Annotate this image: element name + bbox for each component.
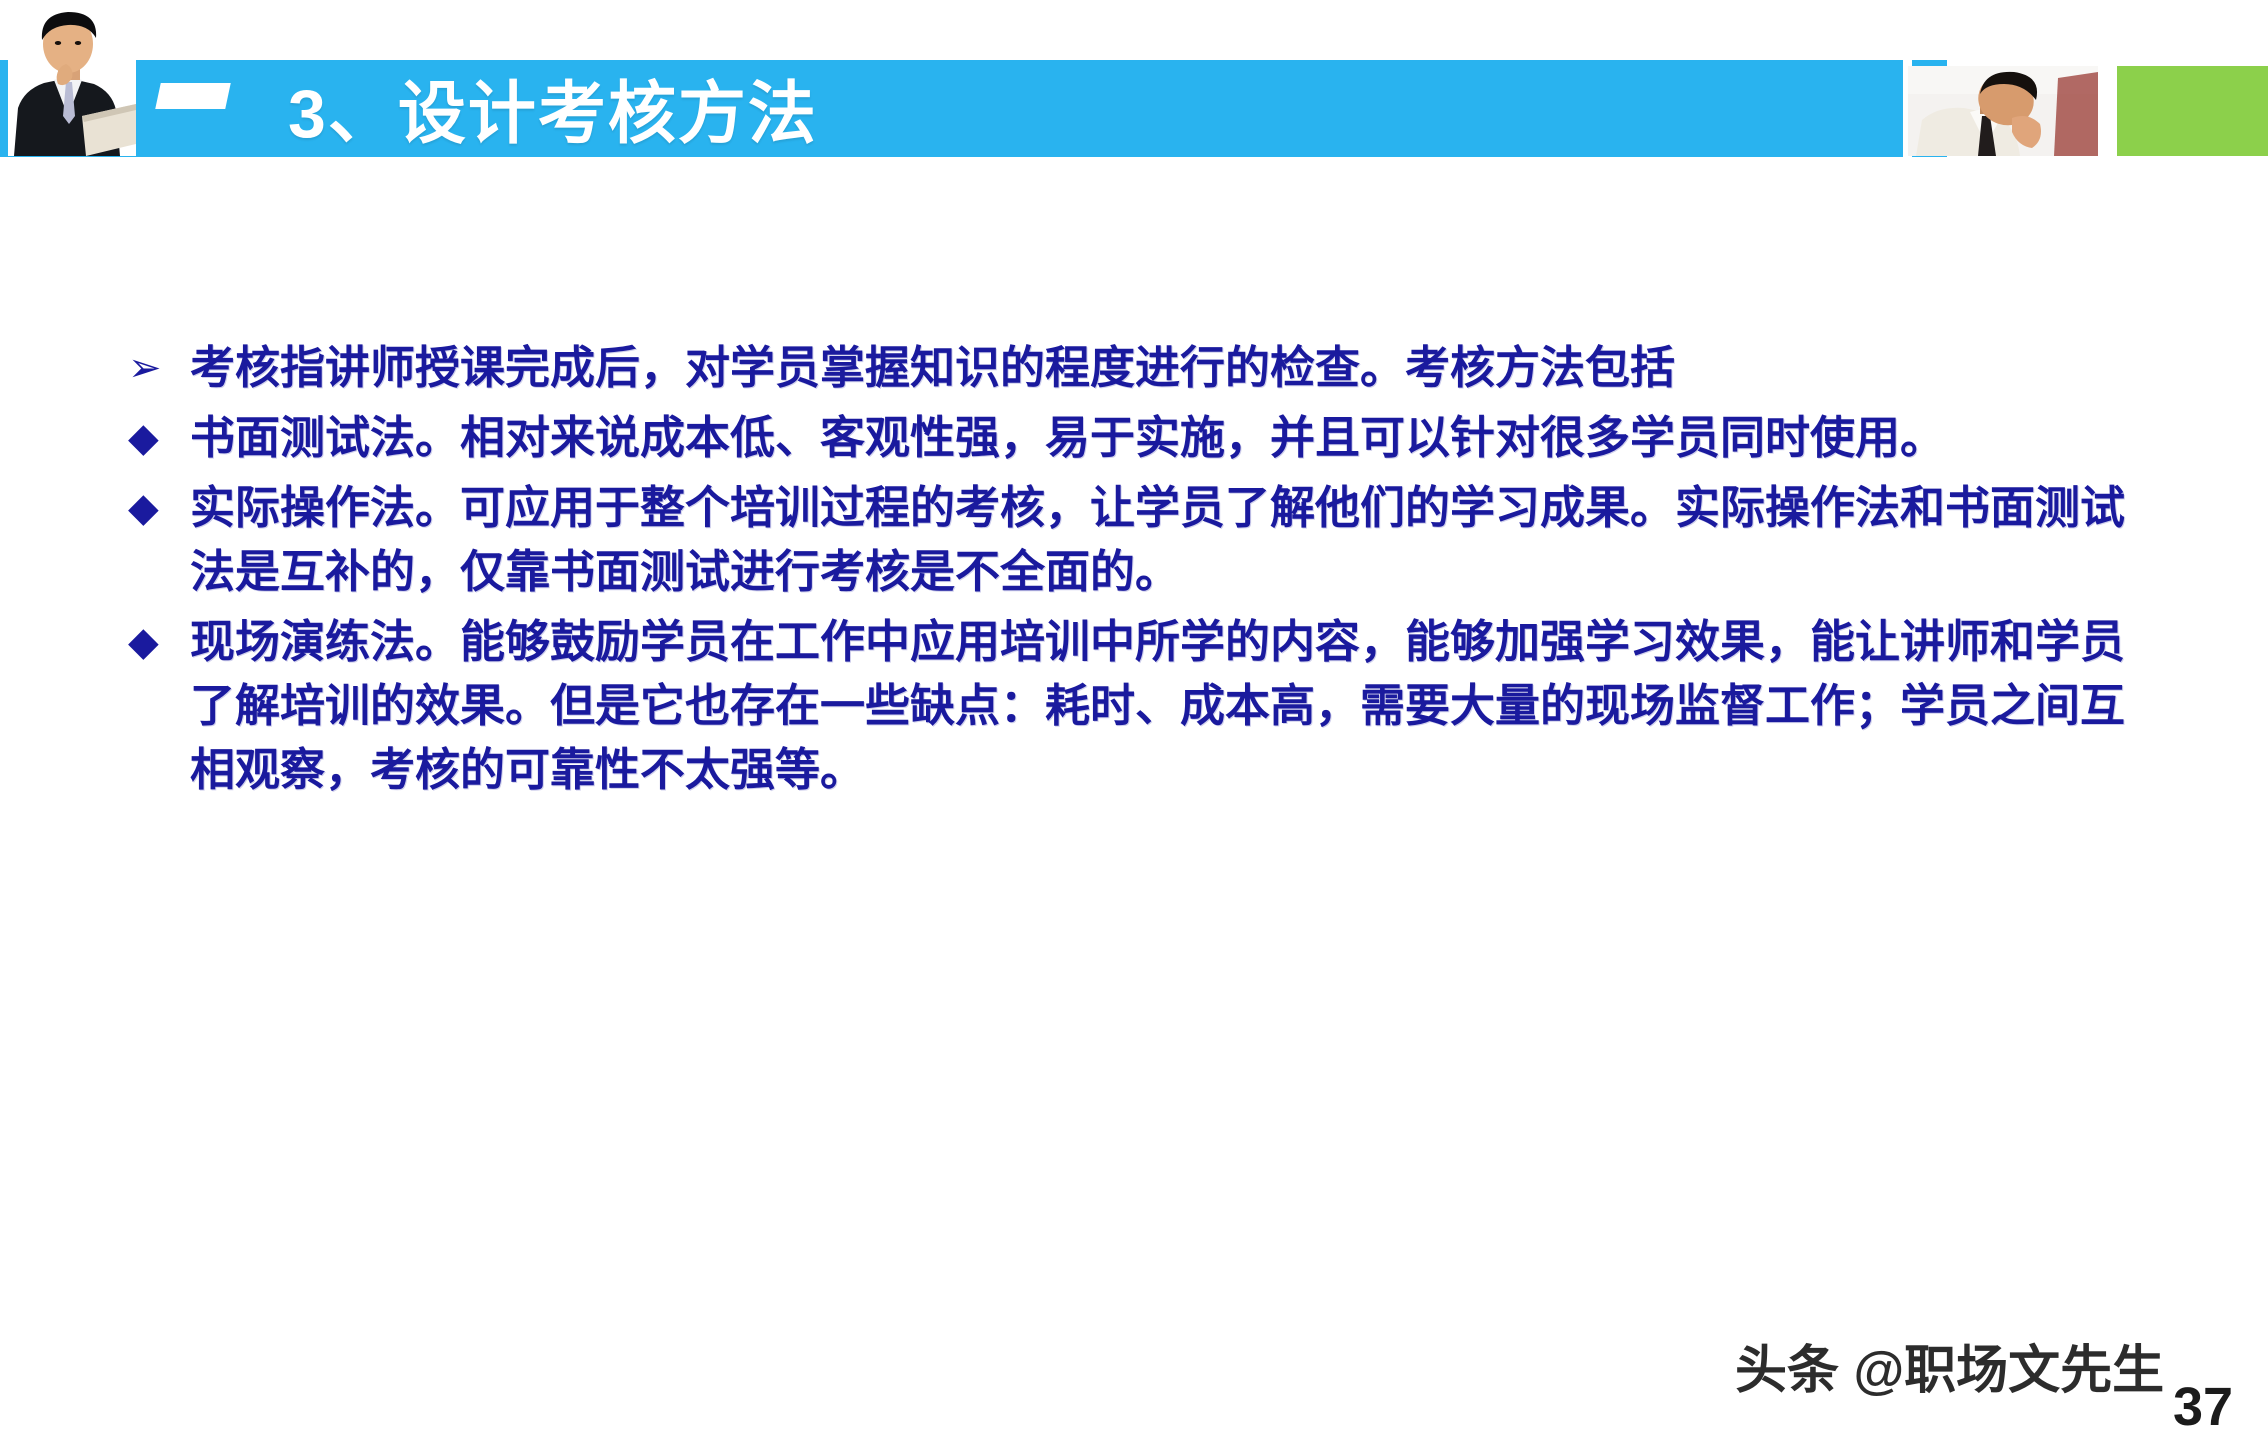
bullet-text: 考核指讲师授课完成后，对学员掌握知识的程度进行的检查。考核方法包括 xyxy=(190,336,2148,400)
businessman-with-laptop-image xyxy=(8,4,136,156)
list-item: ◆ 现场演练法。能够鼓励学员在工作中应用培训中所学的内容，能够加强学习效果，能让… xyxy=(128,610,2148,802)
slide-body: ➢ 考核指讲师授课完成后，对学员掌握知识的程度进行的检查。考核方法包括 ◆ 书面… xyxy=(128,336,2148,808)
diamond-bullet-icon: ◆ xyxy=(128,610,190,674)
page-title: 3、设计考核方法 xyxy=(288,52,818,162)
diamond-bullet-icon: ◆ xyxy=(128,476,190,540)
list-item: ◆ 实际操作法。可应用于整个培训过程的考核，让学员了解他们的学习成果。实际操作法… xyxy=(128,476,2148,604)
watermark: 头条 @职场文先生 xyxy=(1735,1328,2164,1403)
bullet-text: 实际操作法。可应用于整个培训过程的考核，让学员了解他们的学习成果。实际操作法和书… xyxy=(190,476,2148,604)
bullet-text: 现场演练法。能够鼓励学员在工作中应用培训中所学的内容，能够加强学习效果，能让讲师… xyxy=(190,610,2148,802)
green-accent-block xyxy=(2117,66,2268,156)
page-number: 37 xyxy=(2173,1376,2233,1438)
title-dash-marker xyxy=(155,83,231,109)
businessman-thinking-image xyxy=(1908,66,2098,156)
slide-canvas: 3、设计考核方法 ➢ 考核指讲师授课 xyxy=(0,0,2268,1440)
list-item: ➢ 考核指讲师授课完成后，对学员掌握知识的程度进行的检查。考核方法包括 xyxy=(128,336,2148,400)
list-item: ◆ 书面测试法。相对来说成本低、客观性强，易于实施，并且可以针对很多学员同时使用… xyxy=(128,406,2148,470)
header-blue-band xyxy=(0,60,1903,157)
arrow-bullet-icon: ➢ xyxy=(128,336,190,400)
bullet-text: 书面测试法。相对来说成本低、客观性强，易于实施，并且可以针对很多学员同时使用。 xyxy=(190,406,2148,470)
diamond-bullet-icon: ◆ xyxy=(128,406,190,470)
